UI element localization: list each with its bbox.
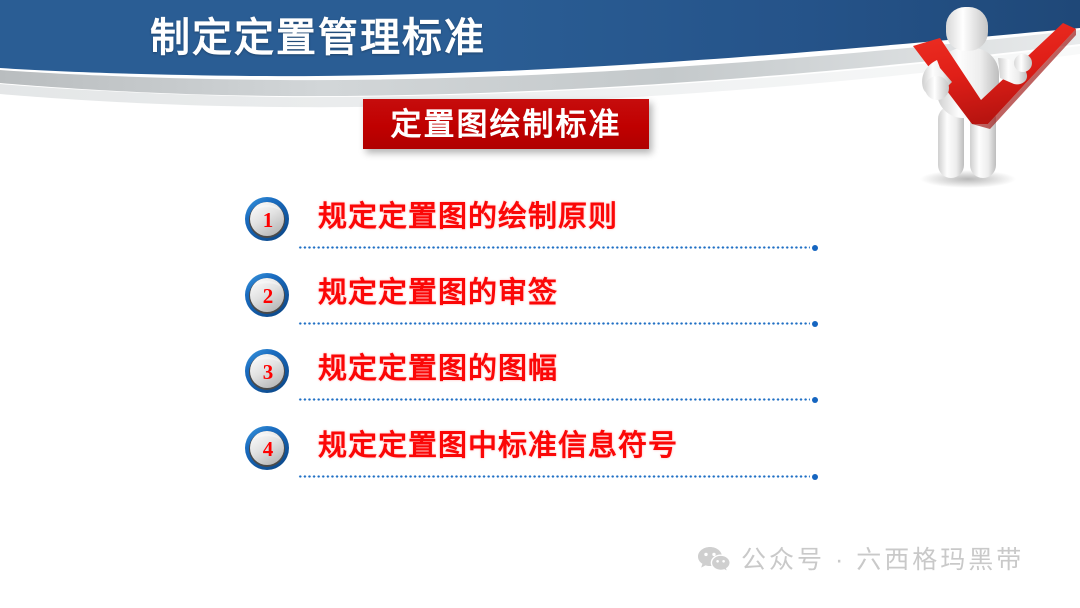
dotted-line xyxy=(298,322,810,325)
list-item-badge: 4 xyxy=(243,424,291,472)
section-banner: 定置图绘制标准 xyxy=(363,99,649,149)
section-banner-title: 定置图绘制标准 xyxy=(391,109,622,140)
list-item[interactable]: 4 规定定置图中标准信息符号 xyxy=(243,424,843,502)
figure-shadow xyxy=(920,170,1016,188)
dotted-line xyxy=(298,475,810,478)
list-item-badge: 2 xyxy=(243,271,291,319)
list-item-rule xyxy=(298,321,818,326)
list-item-number: 2 xyxy=(244,272,292,320)
list-item-badge: 1 xyxy=(243,195,291,243)
list-item[interactable]: 1 规定定置图的绘制原则 xyxy=(243,195,843,273)
dotted-line xyxy=(298,246,810,249)
list-item-rule xyxy=(298,397,818,402)
wechat-icon xyxy=(697,546,731,574)
page-title: 制定定置管理标准 xyxy=(150,12,770,64)
slide-canvas: 制定定置管理标准 xyxy=(0,0,1080,608)
rule-end-dot xyxy=(812,321,818,327)
rule-end-dot xyxy=(812,245,818,251)
list-item-label: 规定定置图中标准信息符号 xyxy=(318,426,678,466)
list-item-label: 规定定置图的绘制原则 xyxy=(318,197,618,237)
list-item-label: 规定定置图的图幅 xyxy=(318,349,558,389)
list-item-label: 规定定置图的审签 xyxy=(318,273,558,313)
list-item-number: 1 xyxy=(244,196,292,244)
list-item-rule xyxy=(298,245,818,250)
list-item-rule xyxy=(298,474,818,479)
list-item-number: 3 xyxy=(244,348,292,396)
rule-end-dot xyxy=(812,397,818,403)
list-item[interactable]: 2 规定定置图的审签 xyxy=(243,271,843,349)
rule-end-dot xyxy=(812,474,818,480)
list-item[interactable]: 3 规定定置图的图幅 xyxy=(243,347,843,425)
watermark: 公众号 · 六西格玛黑带 xyxy=(697,546,1024,574)
watermark-text: 公众号 · 六西格玛黑带 xyxy=(741,548,1024,573)
list-item-number: 4 xyxy=(244,425,292,473)
dotted-line xyxy=(298,398,810,401)
list-item-badge: 3 xyxy=(243,347,291,395)
